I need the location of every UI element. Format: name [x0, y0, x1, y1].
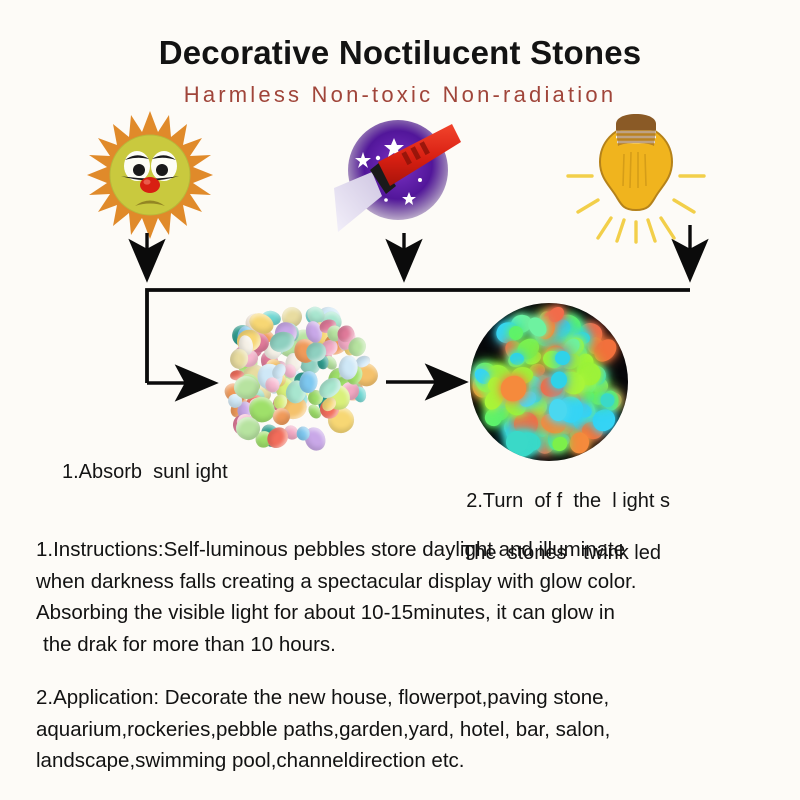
- application-line-3: landscape,swimming pool,channeldirection…: [36, 749, 464, 772]
- page-title: Decorative Noctilucent Stones: [0, 34, 800, 72]
- application-line-1: 2.Application: Decorate the new house, f…: [36, 686, 609, 709]
- step-1-caption: 1.Absorb sunl ight: [62, 461, 228, 484]
- instructions-line-4: the drak for more than 10 hours.: [36, 633, 336, 656]
- light-source-icon-row: [0, 108, 800, 238]
- description-block: 1.Instructions:Self-luminous pebbles sto…: [36, 534, 778, 777]
- sun-icon: [85, 110, 215, 240]
- instructions-line-1: 1.Instructions:Self-luminous pebbles sto…: [36, 538, 625, 561]
- instructions-paragraph: 1.Instructions:Self-luminous pebbles sto…: [36, 534, 778, 660]
- day-stones-image: [215, 298, 377, 460]
- page-subtitle: Harmless Non-toxic Non-radiation: [0, 82, 800, 108]
- application-line-2: aquarium,rockeries,pebble paths,garden,y…: [36, 718, 610, 741]
- infographic-page: Decorative Noctilucent Stones Harmless N…: [0, 0, 800, 800]
- pebble: [549, 398, 567, 420]
- step-2-line-1: 2.Turn of f the l ight s: [466, 490, 670, 512]
- instructions-line-2: when darkness falls creating a spectacul…: [36, 570, 637, 593]
- instructions-line-3: Absorbing the visible light for about 10…: [36, 601, 615, 624]
- light-bulb-icon: [566, 108, 706, 244]
- application-paragraph: 2.Application: Decorate the new house, f…: [36, 682, 778, 777]
- flashlight-night-icon: [330, 110, 462, 240]
- night-stones-image: [470, 303, 628, 461]
